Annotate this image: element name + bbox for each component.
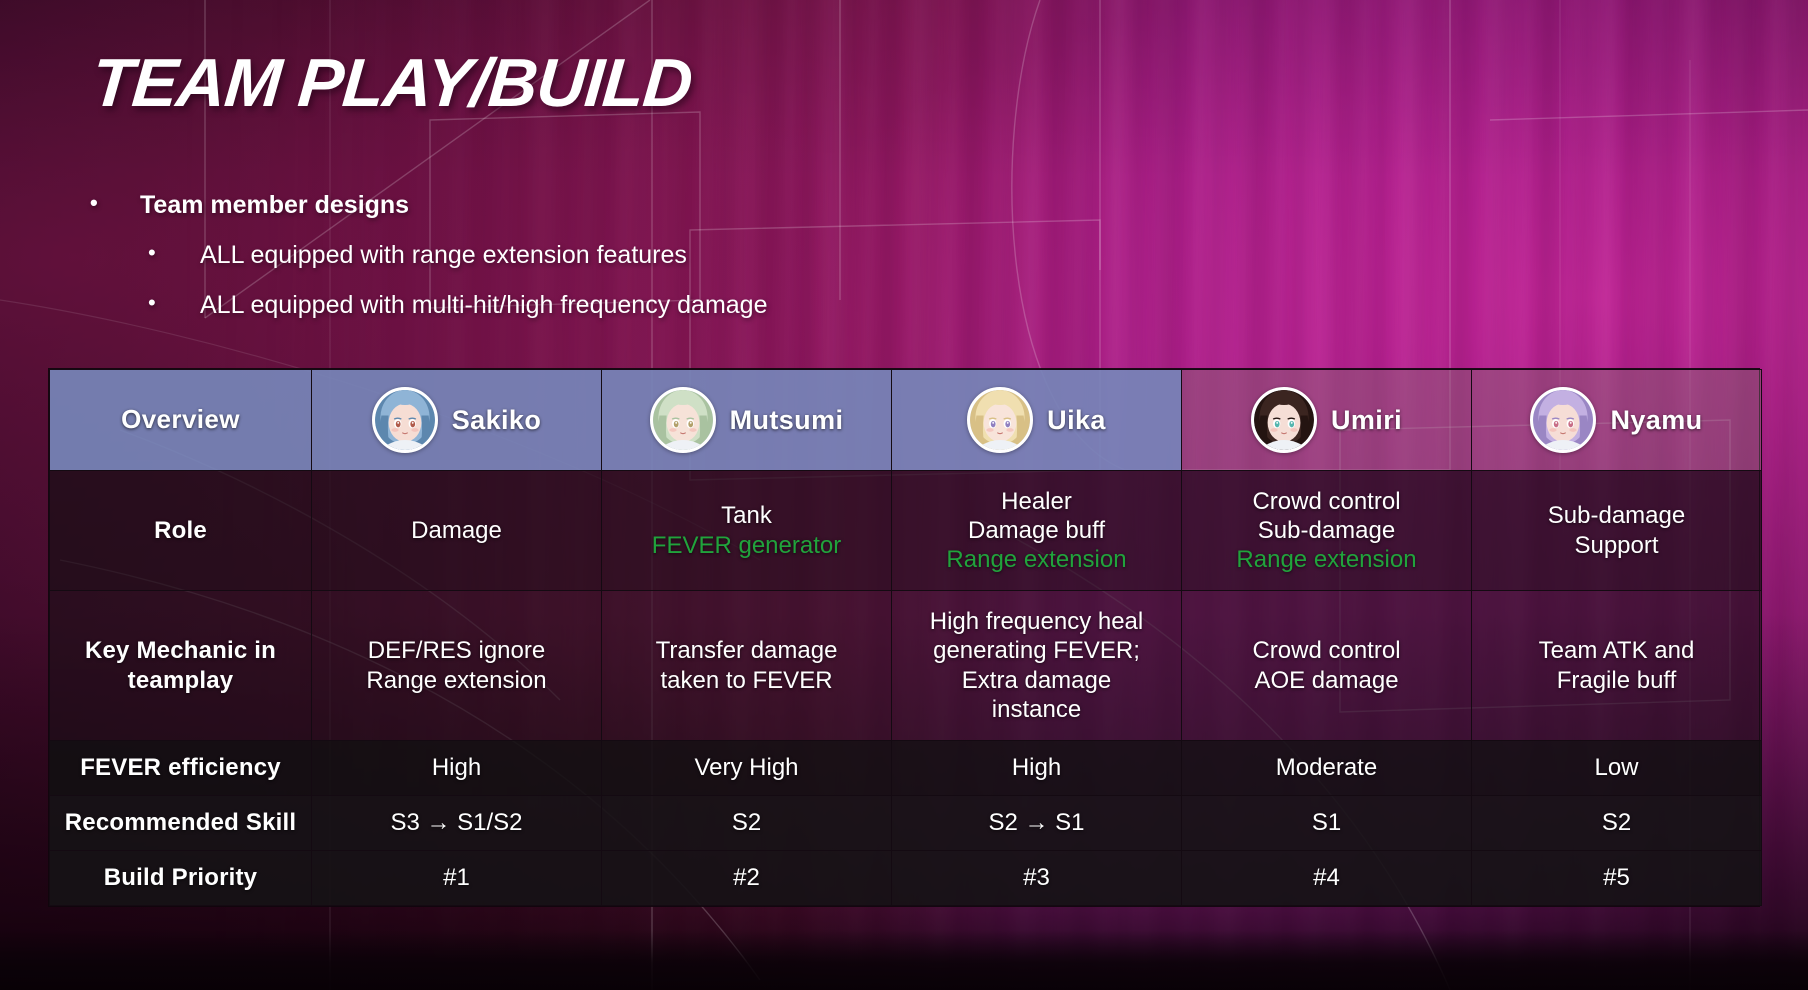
cell-line: generating FEVER; — [902, 636, 1171, 665]
table-cell: Crowd controlSub-damageRange extension — [1182, 471, 1472, 591]
table-cell: S1 — [1182, 796, 1472, 851]
avatar-mutsumi-icon — [650, 387, 716, 453]
cell-line: High — [322, 753, 591, 782]
table-row: Build Priority#1#2#3#4#5 — [50, 851, 1762, 906]
bullet-item-level1: • Team member designs — [80, 190, 1180, 220]
cell-line: #2 — [612, 863, 881, 892]
cell-line: taken to FEVER — [612, 666, 881, 695]
table-cell: #1 — [312, 851, 602, 906]
cell-line: Team ATK and — [1482, 636, 1751, 665]
cell-line: Very High — [612, 753, 881, 782]
bullet-text: ALL equipped with multi-hit/high frequen… — [200, 290, 767, 320]
bullet-text: ALL equipped with range extension featur… — [200, 240, 687, 270]
column-header-label: Mutsumi — [730, 404, 844, 437]
team-comparison-table: Overview Sakiko — [48, 368, 1760, 907]
cell-line: #5 — [1482, 863, 1751, 892]
table-cell: #3 — [892, 851, 1182, 906]
bullet-glyph-icon: • — [80, 190, 140, 216]
cell-line: Extra damage — [902, 666, 1171, 695]
table-cell: #5 — [1472, 851, 1762, 906]
column-header-uika[interactable]: Uika — [892, 370, 1182, 471]
cell-line: Crowd control — [1192, 636, 1461, 665]
table-cell: Very High — [602, 741, 892, 796]
avatar-sakiko-icon — [372, 387, 438, 453]
cell-line: S3 → S1/S2 — [322, 808, 591, 837]
column-header-label: Umiri — [1331, 404, 1402, 437]
bullet-text: Team member designs — [140, 190, 409, 220]
table-cell: High — [312, 741, 602, 796]
table-row: Recommended SkillS3 → S1/S2S2S2 → S1S1S2 — [50, 796, 1762, 851]
cell-line: Fragile buff — [1482, 666, 1751, 695]
row-header-build-priority: Build Priority — [50, 851, 312, 906]
cell-line: Range extension — [1192, 545, 1461, 574]
avatar-umiri-icon — [1251, 387, 1317, 453]
cell-line: #1 — [322, 863, 591, 892]
table-cell: S2 — [1472, 796, 1762, 851]
table-cell: S2 → S1 — [892, 796, 1182, 851]
table-row: FEVER efficiencyHighVery HighHighModerat… — [50, 741, 1762, 796]
cell-line: Tank — [612, 501, 881, 530]
cell-line: instance — [902, 695, 1171, 724]
bullet-item-level2: • ALL equipped with range extension feat… — [80, 240, 1180, 270]
cell-line: AOE damage — [1192, 666, 1461, 695]
cell-line: High — [902, 753, 1171, 782]
table-header-row: Overview Sakiko — [50, 370, 1762, 471]
bullet-glyph-icon: • — [80, 240, 200, 266]
column-header-mutsumi[interactable]: Mutsumi — [602, 370, 892, 471]
cell-line: S1 — [1192, 808, 1461, 837]
row-header-fever-efficiency: FEVER efficiency — [50, 741, 312, 796]
cell-line: Moderate — [1192, 753, 1461, 782]
table-cell: #4 — [1182, 851, 1472, 906]
table-cell: DEF/RES ignoreRange extension — [312, 591, 602, 741]
cell-line: Sub-damage — [1192, 516, 1461, 545]
table-row: RoleDamageTankFEVER generatorHealerDamag… — [50, 471, 1762, 591]
cell-line: FEVER generator — [612, 531, 881, 560]
table-cell: HealerDamage buffRange extension — [892, 471, 1182, 591]
table-cell: #2 — [602, 851, 892, 906]
table-cell: TankFEVER generator — [602, 471, 892, 591]
table-body: Overview Sakiko — [50, 370, 1762, 906]
bullet-glyph-icon: • — [80, 290, 200, 316]
column-header-label: Nyamu — [1610, 404, 1702, 437]
table-cell: Sub-damageSupport — [1472, 471, 1762, 591]
cell-line: Range extension — [902, 545, 1171, 574]
avatar-uika-icon — [967, 387, 1033, 453]
table-cell: High frequency healgenerating FEVER;Extr… — [892, 591, 1182, 741]
table-cell: High — [892, 741, 1182, 796]
cell-line: Crowd control — [1192, 487, 1461, 516]
table-cell: Moderate — [1182, 741, 1472, 796]
table-cell: Low — [1472, 741, 1762, 796]
column-header-umiri[interactable]: Umiri — [1182, 370, 1472, 471]
cell-line: Transfer damage — [612, 636, 881, 665]
cell-line: High frequency heal — [902, 607, 1171, 636]
cell-line: DEF/RES ignore — [322, 636, 591, 665]
row-header-role: Role — [50, 471, 312, 591]
page-title: TEAM PLAY/BUILD — [89, 44, 695, 122]
avatar-nyamu-icon — [1530, 387, 1596, 453]
cell-line: Sub-damage — [1482, 501, 1751, 530]
cell-line: Damage buff — [902, 516, 1171, 545]
table-cell: Crowd controlAOE damage — [1182, 591, 1472, 741]
column-header-label: Uika — [1047, 404, 1106, 437]
cell-line: Low — [1482, 753, 1751, 782]
table-cell: Damage — [312, 471, 602, 591]
table-cell: Transfer damagetaken to FEVER — [602, 591, 892, 741]
column-header-nyamu[interactable]: Nyamu — [1472, 370, 1762, 471]
cell-line: Healer — [902, 487, 1171, 516]
row-header-recommended-skill: Recommended Skill — [50, 796, 312, 851]
bullet-list: • Team member designs • ALL equipped wit… — [80, 190, 1180, 320]
column-header-label: Sakiko — [452, 404, 541, 437]
cell-line: S2 — [612, 808, 881, 837]
column-header-sakiko[interactable]: Sakiko — [312, 370, 602, 471]
cell-line: Damage — [322, 516, 591, 545]
corner-label: Overview — [121, 404, 240, 436]
table-row: Key Mechanic in teamplayDEF/RES ignoreRa… — [50, 591, 1762, 741]
cell-line: Support — [1482, 531, 1751, 560]
table-cell: Team ATK andFragile buff — [1472, 591, 1762, 741]
cell-line: S2 → S1 — [902, 808, 1171, 837]
table-cell: S2 — [602, 796, 892, 851]
row-header-key-mechanic-in-teamplay: Key Mechanic in teamplay — [50, 591, 312, 741]
cell-line: #4 — [1192, 863, 1461, 892]
cell-line: Range extension — [322, 666, 591, 695]
bottom-shadow-overlay — [0, 930, 1808, 990]
bullet-item-level2: • ALL equipped with multi-hit/high frequ… — [80, 290, 1180, 320]
cell-line: #3 — [902, 863, 1171, 892]
table-corner-header: Overview — [50, 370, 312, 471]
cell-line: S2 — [1482, 808, 1751, 837]
table-cell: S3 → S1/S2 — [312, 796, 602, 851]
